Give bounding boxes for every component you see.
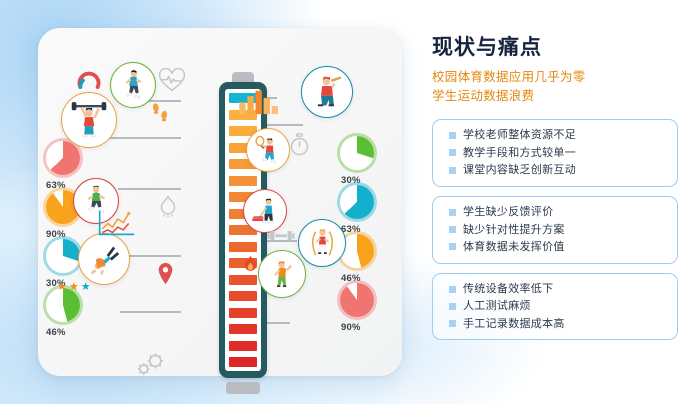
pain-point-item: 学校老师整体资源不足	[449, 127, 667, 144]
gears-icon	[133, 352, 167, 377]
athlete-weightlifter-icon	[61, 92, 117, 148]
gauge-percent-label: 90%	[341, 322, 361, 333]
pain-point-label: 人工测试麻烦	[463, 300, 531, 312]
athlete-batter-icon	[301, 66, 353, 118]
thermometer-bar	[229, 275, 257, 285]
star-rating-icon: ★★★	[57, 280, 91, 293]
subtitle-line-1: 校园体育数据应用几乎为零	[432, 68, 678, 87]
thermometer-bar	[229, 291, 257, 301]
thermometer-graphic	[219, 72, 267, 394]
bullet-square-icon	[449, 320, 456, 327]
pain-point-box-list: 学校老师整体资源不足教学手段和方式较单一课堂内容缺乏创新互动学生缺少反馈评价缺少…	[432, 119, 678, 341]
pain-point-box: 学生缺少反馈评价缺少针对性提升方案体育数据未发挥价值	[432, 196, 678, 264]
pain-point-item: 学生缺少反馈评价	[449, 204, 667, 221]
connector-line	[118, 188, 181, 190]
pain-point-label: 体育数据未发挥价值	[463, 241, 565, 253]
pain-point-item: 人工测试麻烦	[449, 298, 667, 315]
bar-chart-icon	[238, 88, 282, 115]
subtitle-line-2: 学生运动数据浪费	[432, 87, 678, 106]
line-chart-icon	[96, 209, 136, 238]
progress-gauge	[340, 185, 374, 219]
bullet-square-icon	[449, 243, 456, 250]
flame-outline-icon	[159, 195, 177, 218]
pain-point-item: 手工记录数据成本高	[449, 315, 667, 332]
pain-point-item: 缺少针对性提升方案	[449, 221, 667, 238]
athlete-gymnast-icon	[78, 233, 130, 285]
pain-point-item: 课堂内容缺乏创新互动	[449, 161, 667, 178]
thermometer-base	[226, 382, 260, 394]
pain-point-box: 学校老师整体资源不足教学手段和方式较单一课堂内容缺乏创新互动	[432, 119, 678, 187]
star-icon: ★	[81, 280, 91, 293]
pain-point-label: 课堂内容缺乏创新互动	[463, 164, 576, 176]
progress-gauge	[46, 239, 80, 273]
pain-point-item: 教学手段和方式较单一	[449, 144, 667, 161]
progress-gauge	[46, 288, 80, 322]
progress-gauge	[340, 136, 374, 170]
pain-point-item: 传统设备效率低下	[449, 281, 667, 298]
page-title: 现状与痛点	[432, 36, 678, 59]
pain-point-label: 学生缺少反馈评价	[463, 206, 553, 218]
content-column: 现状与痛点 校园体育数据应用几乎为零 学生运动数据浪费 学校老师整体资源不足教学…	[432, 36, 678, 349]
star-icon: ★	[57, 280, 67, 293]
bullet-square-icon	[449, 209, 456, 216]
connector-line	[106, 137, 181, 139]
connector-line	[120, 311, 181, 313]
athlete-stretch-icon	[258, 250, 306, 298]
map-pin-icon	[157, 262, 174, 286]
arc-gauge-icon	[76, 68, 102, 94]
thermometer-bar	[229, 324, 257, 334]
athlete-jumprope-icon	[298, 219, 346, 267]
pain-point-box: 传统设备效率低下人工测试麻烦手工记录数据成本高	[432, 273, 678, 341]
pain-point-label: 学校老师整体资源不足	[463, 129, 576, 141]
flame-icon	[243, 255, 258, 275]
pain-point-label: 缺少针对性提升方案	[463, 224, 565, 236]
heart-pulse-icon	[158, 68, 186, 93]
pain-point-item: 体育数据未发挥价值	[449, 238, 667, 255]
pain-point-label: 传统设备效率低下	[463, 283, 553, 295]
slide-canvas: 63%90%30%46% 30%63%46%90%	[0, 0, 700, 404]
athlete-tennis-icon	[246, 128, 290, 172]
gauge-percent-label: 46%	[46, 327, 66, 338]
bullet-square-icon	[449, 226, 456, 233]
athlete-walker-icon	[243, 189, 287, 233]
progress-gauge	[340, 283, 374, 317]
thermometer-bar	[229, 341, 257, 351]
thermometer-bar	[229, 176, 257, 186]
bullet-square-icon	[449, 132, 456, 139]
progress-gauge	[46, 141, 80, 175]
bullet-square-icon	[449, 286, 456, 293]
pain-point-label: 教学手段和方式较单一	[463, 147, 576, 159]
thermometer-bar	[229, 357, 257, 367]
bullet-square-icon	[449, 149, 456, 156]
bullet-square-icon	[449, 167, 456, 174]
star-icon: ★	[69, 280, 79, 293]
page-subtitle: 校园体育数据应用几乎为零 学生运动数据浪费	[432, 68, 678, 107]
dumbbell-icon	[267, 229, 295, 243]
footprints-icon	[150, 100, 170, 125]
thermometer-bar	[229, 242, 257, 252]
bullet-square-icon	[449, 303, 456, 310]
stopwatch-icon	[289, 133, 310, 157]
thermometer-bar	[229, 308, 257, 318]
pain-point-label: 手工记录数据成本高	[463, 318, 565, 330]
infographic-card: 63%90%30%46% 30%63%46%90%	[38, 28, 402, 376]
